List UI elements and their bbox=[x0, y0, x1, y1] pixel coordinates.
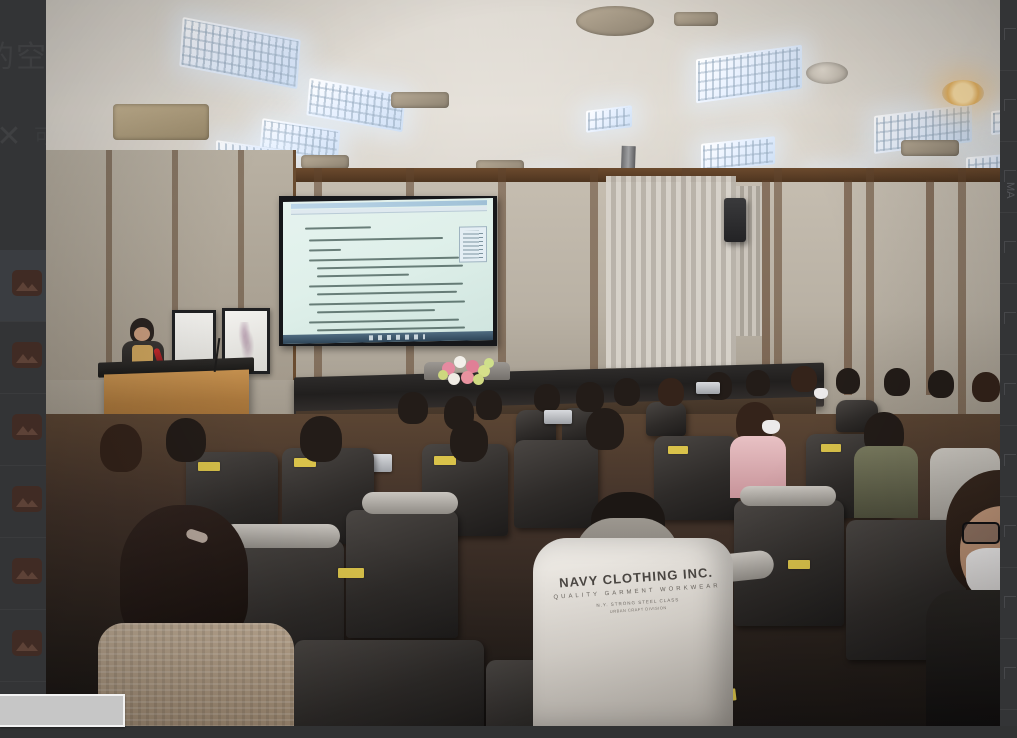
slide-taskbar bbox=[283, 331, 493, 344]
audience-head bbox=[791, 366, 817, 392]
tagline-word: QUALITY bbox=[553, 592, 600, 601]
speaker-face bbox=[134, 327, 150, 341]
seat-number-tag bbox=[788, 560, 810, 569]
laptop bbox=[696, 382, 720, 394]
list-item[interactable] bbox=[0, 538, 46, 610]
seat-headrest bbox=[740, 486, 836, 506]
file-list[interactable] bbox=[0, 250, 46, 682]
screen-root: 我的空 ✕ 可 名稱 bbox=[0, 0, 1017, 738]
ceiling-vent bbox=[674, 12, 718, 26]
audience-head bbox=[972, 372, 1000, 402]
right-panel-row[interactable] bbox=[1000, 568, 1017, 639]
audience-head bbox=[658, 378, 684, 406]
audience-head bbox=[534, 384, 560, 412]
audience-head bbox=[884, 368, 910, 396]
photo-viewer[interactable]: NAVY CLOTHING INC. QUALITY GARMENT WORKW… bbox=[46, 0, 1017, 727]
seat-number-tag bbox=[338, 568, 364, 578]
list-item[interactable] bbox=[0, 322, 46, 394]
image-placeholder-icon bbox=[12, 414, 42, 440]
image-placeholder-icon bbox=[12, 270, 42, 296]
projection-screen bbox=[279, 196, 497, 346]
seat-headrest bbox=[362, 492, 458, 514]
ceiling-vent bbox=[113, 104, 209, 140]
seat bbox=[646, 402, 686, 436]
image-placeholder-icon bbox=[12, 342, 42, 368]
audience-head bbox=[100, 424, 142, 472]
flower-arrangement bbox=[436, 352, 498, 388]
seat-number-tag bbox=[198, 462, 220, 471]
warm-downlight bbox=[942, 80, 984, 106]
foreground-person-left bbox=[98, 505, 298, 727]
slide-thumbnail-pane bbox=[459, 226, 487, 263]
tagline-word: WORKWEAR bbox=[660, 583, 721, 593]
list-item[interactable] bbox=[0, 394, 46, 466]
seat-number-tag bbox=[434, 456, 456, 465]
audience-head bbox=[450, 420, 488, 462]
audience-head bbox=[746, 370, 770, 396]
audience-head bbox=[300, 416, 342, 462]
bottom-strip bbox=[0, 726, 1017, 738]
right-panel-row[interactable] bbox=[1000, 142, 1017, 213]
ceiling-vent bbox=[901, 140, 959, 156]
download-status-bar[interactable] bbox=[0, 694, 125, 727]
ceiling-vent bbox=[576, 6, 654, 36]
wall-speaker bbox=[724, 198, 746, 242]
seat-number-tag bbox=[668, 446, 688, 454]
image-placeholder-icon bbox=[12, 486, 42, 512]
list-item[interactable] bbox=[0, 250, 46, 322]
close-icon[interactable]: ✕ bbox=[0, 120, 26, 154]
right-panel-row[interactable] bbox=[1000, 497, 1017, 568]
list-item[interactable] bbox=[0, 466, 46, 538]
right-panel-row[interactable] bbox=[1000, 0, 1017, 71]
audience-head bbox=[398, 392, 428, 424]
audience-head bbox=[614, 378, 640, 406]
seat bbox=[294, 640, 484, 727]
right-panel-row[interactable] bbox=[1000, 639, 1017, 710]
right-side-panel[interactable]: MA bbox=[1000, 0, 1017, 738]
image-placeholder-icon bbox=[12, 630, 42, 656]
audience-body bbox=[854, 446, 918, 518]
projected-slide bbox=[283, 198, 493, 344]
face-mask bbox=[762, 420, 780, 434]
audience-head bbox=[928, 370, 954, 398]
audience-head bbox=[476, 390, 502, 420]
window-curtain bbox=[606, 176, 736, 368]
right-panel-row[interactable] bbox=[1000, 426, 1017, 497]
audience-head bbox=[836, 368, 860, 394]
right-panel-row[interactable] bbox=[1000, 355, 1017, 426]
whiteboard-marks bbox=[238, 322, 255, 359]
ceiling-vent bbox=[301, 155, 349, 169]
laptop bbox=[544, 410, 572, 424]
page-title: 我的空 bbox=[0, 32, 48, 76]
person-sweater bbox=[98, 623, 294, 727]
face-mask bbox=[814, 388, 828, 399]
right-panel-row[interactable] bbox=[1000, 213, 1017, 284]
seat-number-tag bbox=[821, 444, 841, 452]
right-panel-row[interactable] bbox=[1000, 71, 1017, 142]
image-placeholder-icon bbox=[12, 558, 42, 584]
ceiling-vent bbox=[391, 92, 449, 108]
right-panel-row[interactable] bbox=[1000, 284, 1017, 355]
audience-head bbox=[586, 408, 624, 450]
ceiling-speaker bbox=[806, 62, 848, 84]
tagline-word: GARMENT bbox=[604, 588, 655, 598]
list-item[interactable] bbox=[0, 610, 46, 682]
audience-head bbox=[166, 418, 206, 462]
foreground-person-hoodie: NAVY CLOTHING INC. QUALITY GARMENT WORKW… bbox=[533, 500, 748, 727]
